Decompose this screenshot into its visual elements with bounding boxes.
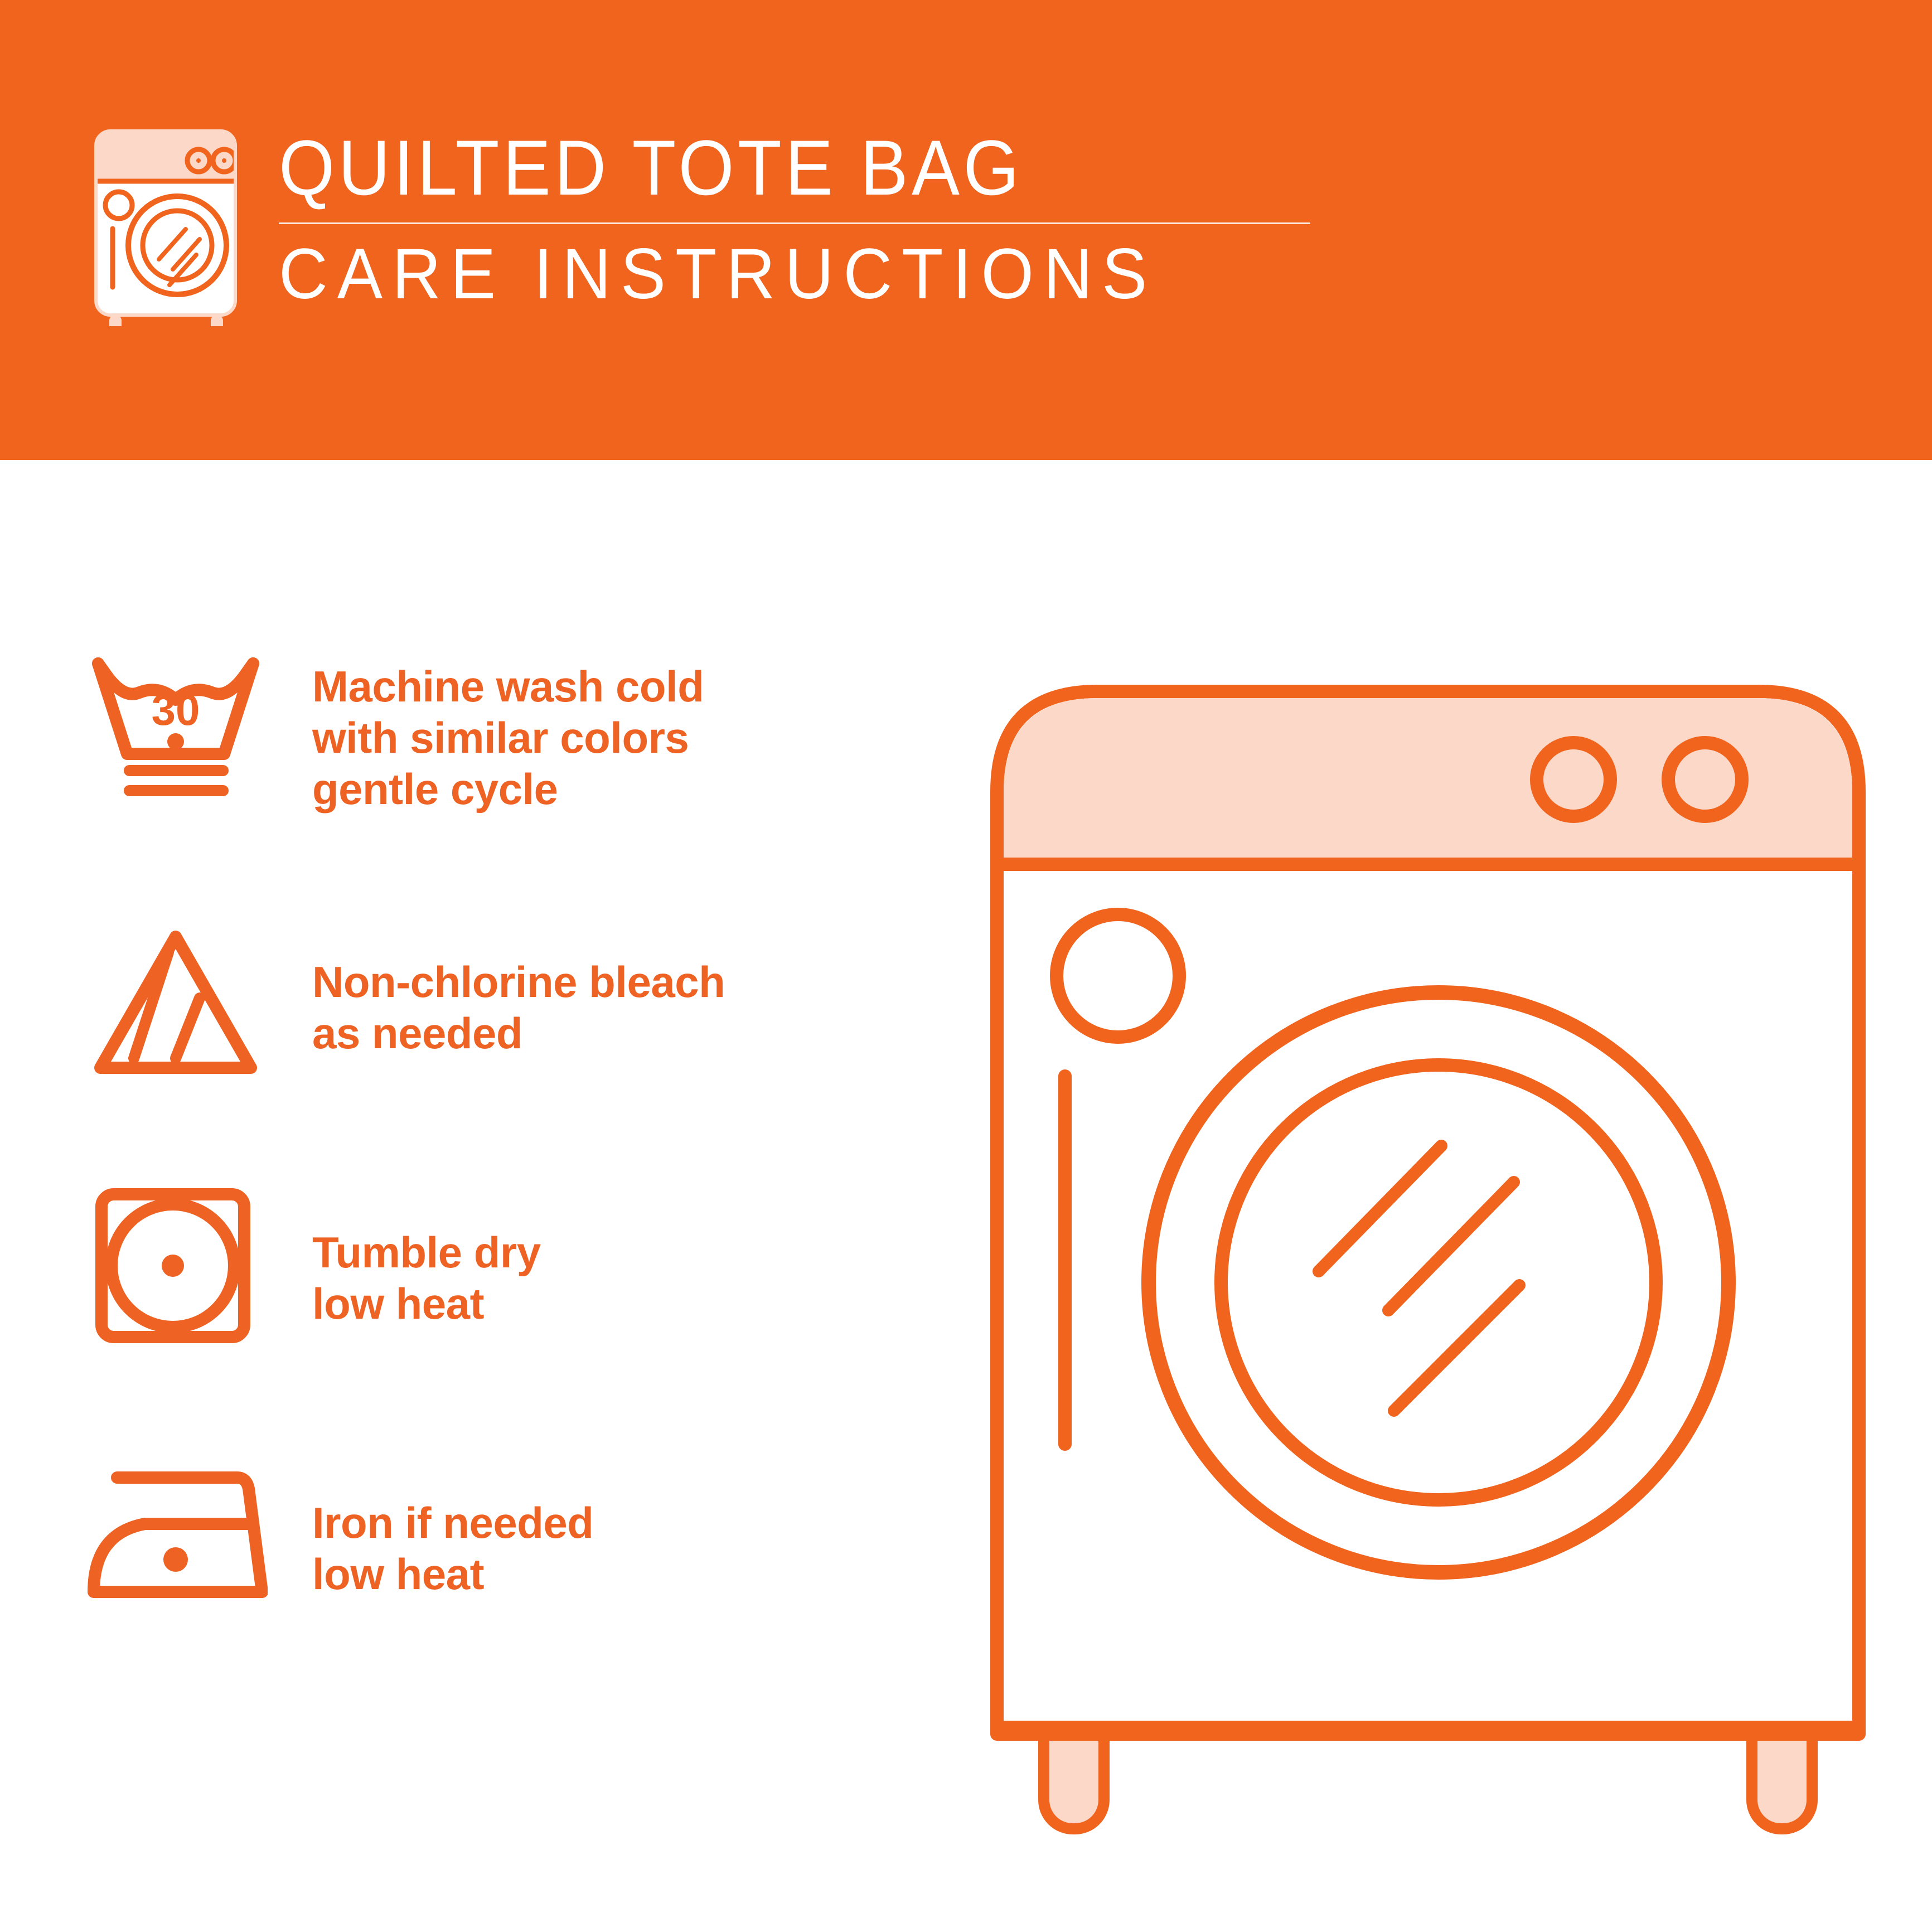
care-text-line: Tumble dry xyxy=(312,1227,875,1278)
care-text-line: as needed xyxy=(312,1008,875,1059)
care-instruction-list: 30 Machine wash cold with similar colors… xyxy=(84,641,875,1712)
care-text-line: Machine wash cold xyxy=(312,661,875,712)
care-text-line: with similar colors xyxy=(312,712,875,763)
header-content: QUILTED TOTE BAG CARE INSTRUCTIONS xyxy=(84,125,1310,326)
machine-wash-30-gentle-icon: 30 xyxy=(84,641,301,814)
care-text-line: low heat xyxy=(312,1278,875,1329)
title-block: QUILTED TOTE BAG CARE INSTRUCTIONS xyxy=(279,125,1310,310)
care-item-iron: Iron if needed low heat xyxy=(84,1444,875,1712)
care-item-tumble-dry: Tumble dry low heat xyxy=(84,1176,875,1444)
front-load-washing-machine-illustration xyxy=(948,624,1907,1907)
care-item-text: Iron if needed low heat xyxy=(301,1444,875,1600)
care-item-text: Tumble dry low heat xyxy=(301,1176,875,1329)
control-knob-right xyxy=(1668,743,1742,816)
page-subtitle: CARE INSTRUCTIONS xyxy=(279,239,1259,310)
control-knob-left xyxy=(1537,743,1610,816)
header-banner: QUILTED TOTE BAG CARE INSTRUCTIONS xyxy=(0,0,1932,460)
non-chlorine-bleach-icon xyxy=(84,909,301,1082)
tumble-dry-low-icon xyxy=(84,1176,301,1349)
care-item-bleach: Non-chlorine bleach as needed xyxy=(84,909,875,1176)
care-instructions-page: QUILTED TOTE BAG CARE INSTRUCTIONS 30 xyxy=(0,0,1932,1932)
care-text-line: gentle cycle xyxy=(312,763,875,815)
care-text-line: Non-chlorine bleach xyxy=(312,956,875,1008)
iron-low-heat-icon xyxy=(84,1444,301,1617)
washing-machine-icon xyxy=(84,125,256,326)
care-text-line: low heat xyxy=(312,1548,875,1600)
title-divider xyxy=(279,222,1310,224)
care-item-text: Machine wash cold with similar colors ge… xyxy=(301,641,875,815)
care-item-machine-wash: 30 Machine wash cold with similar colors… xyxy=(84,641,875,909)
care-item-text: Non-chlorine bleach as needed xyxy=(301,909,875,1059)
wash-temperature-label: 30 xyxy=(152,685,200,734)
page-title: QUILTED TOTE BAG xyxy=(279,129,1228,207)
care-text-line: Iron if needed xyxy=(312,1497,875,1548)
